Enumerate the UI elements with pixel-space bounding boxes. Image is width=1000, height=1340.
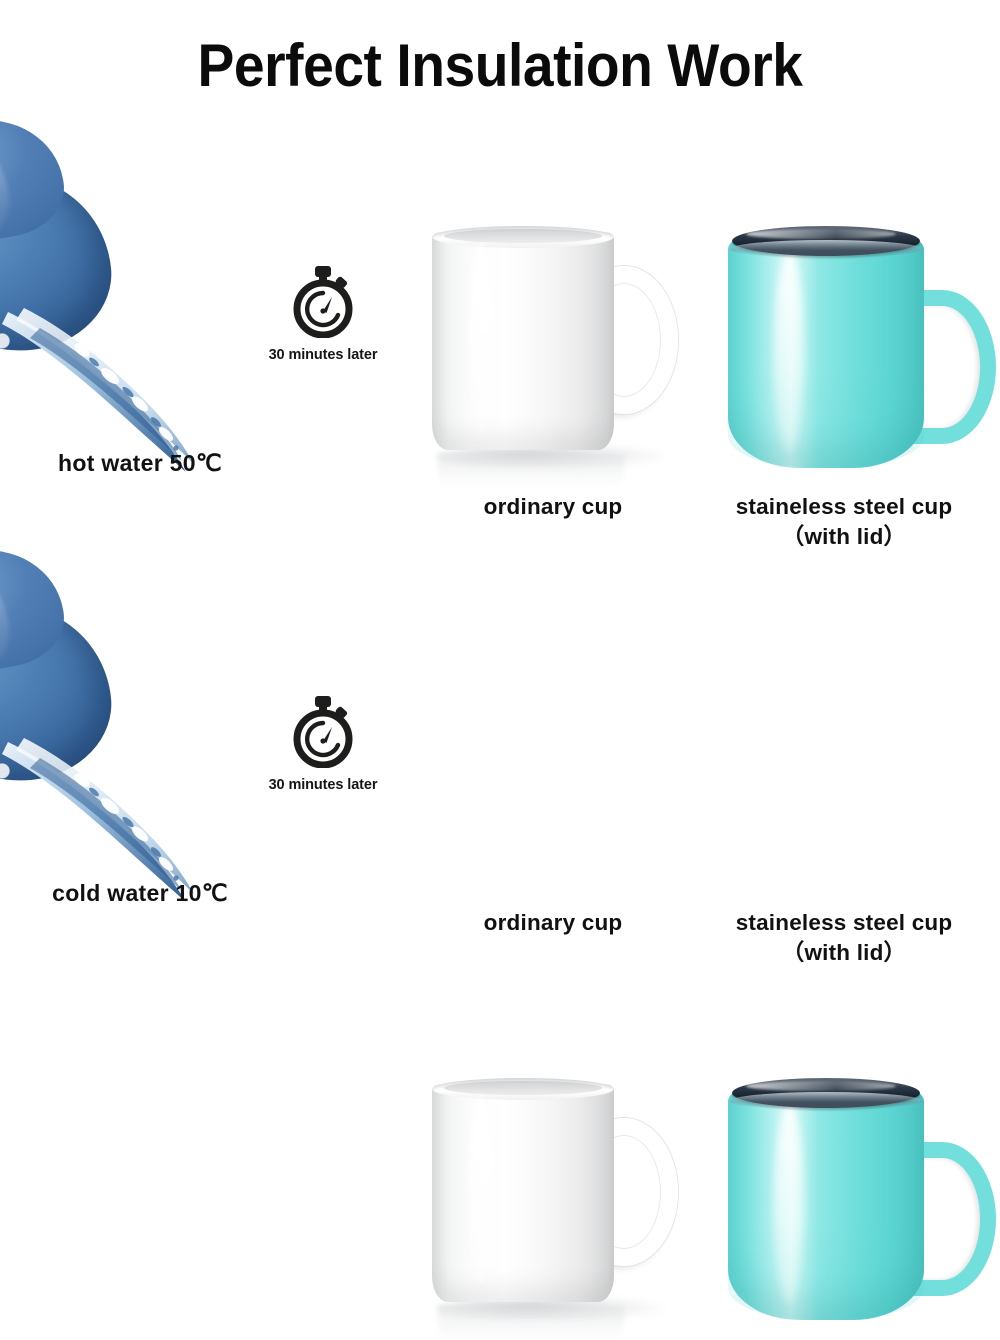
stainless-cup-image-hot [722,218,997,480]
timer-label: 30 minutes later [248,777,398,793]
pouring-kettle-icon [0,550,142,810]
caption-stainless-cup-cold: staineless steel cup （with lid） [688,908,1000,968]
ordinary-cup-image-cold [428,1070,678,1322]
timer-cold: 30 minutes later [248,696,398,793]
timer-label: 30 minutes later [248,347,398,363]
caption-stainless-cup-hot: staineless steel cup （with lid） [688,492,1000,552]
stopwatch-icon [290,696,356,768]
page-title: Perfect Insulation Work [40,34,960,98]
pouring-kettle-icon [0,120,142,380]
hot-water-label: hot water 50℃ [0,450,280,477]
stopwatch-icon [290,266,356,338]
ordinary-cup-image-hot [428,218,678,470]
hot-water-source: hot water 50℃ [0,118,250,478]
comparison-row-hot-water: hot water 50℃ 30 minutes later 30℃ [0,118,1000,548]
cold-water-source: cold water 10℃ [0,548,250,908]
stainless-cup-image-cold [722,1070,997,1332]
cold-water-label: cold water 10℃ [0,880,280,907]
caption-ordinary-cup-hot: ordinary cup [388,492,718,522]
timer-hot: 30 minutes later [248,266,398,363]
caption-ordinary-cup-cold: ordinary cup [388,908,718,938]
